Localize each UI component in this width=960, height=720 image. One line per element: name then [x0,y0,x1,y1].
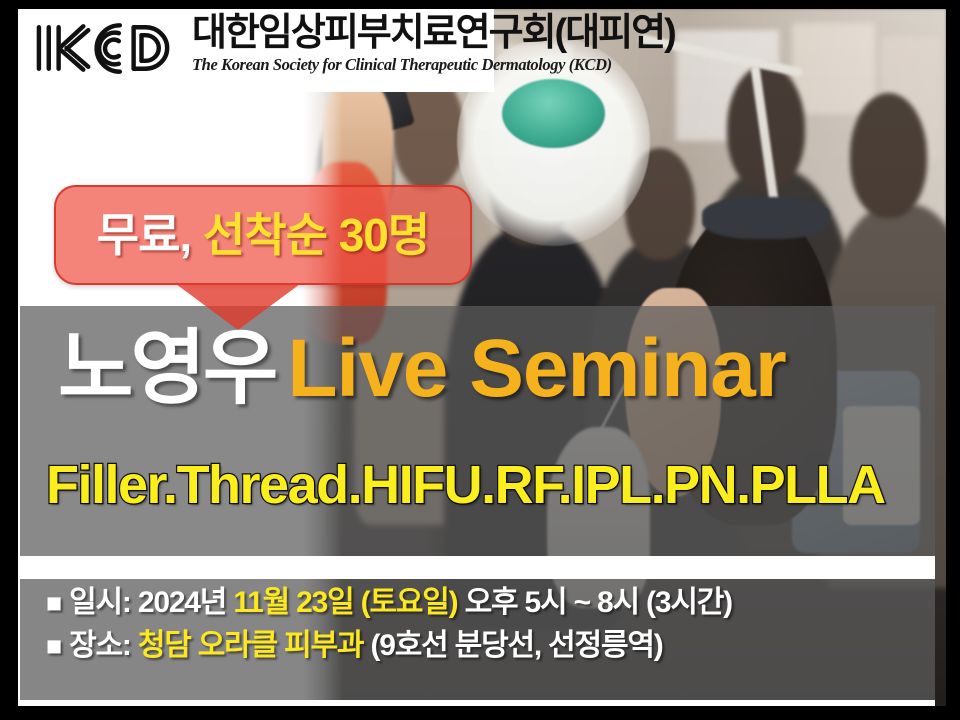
venue-label: 장소: [69,629,131,662]
treatment-topics: Filler.Thread.HIFU.RF.IPL.PN.PLLA [46,458,936,512]
badge-free-label: 무료, [97,209,191,261]
headline-row: 노영우Live Seminar [58,328,918,410]
poster-header: 대한임상피부치료연구회(대피연) The Korean Society for … [18,9,946,92]
badge-pointer-icon [176,284,300,330]
bottom-white-strip [20,700,935,706]
event-type-title: Live Seminar [287,323,785,414]
panel-separator [20,556,935,579]
event-date-line: ■일시: 2024년 11월 23일 (토요일) 오후 5시 ~ 8시 (3시간… [46,588,935,618]
event-venue-line: ■장소: 청담 오라클 피부과 (9호선 분당선, 선정릉역) [46,631,935,661]
poster-inner: 대한임상피부치료연구회(대피연) The Korean Society for … [18,9,946,706]
venue-transit: (9호선 분당선, 선정릉역) [370,629,662,662]
bullet-square-icon: ■ [46,631,61,661]
poster-root: 대한임상피부치료연구회(대피연) The Korean Society for … [0,0,960,720]
org-title-english: The Korean Society for Clinical Therapeu… [192,55,675,75]
speaker-name: 노영우 [58,323,275,414]
event-info-panel: ■일시: 2024년 11월 23일 (토요일) 오후 5시 ~ 8시 (3시간… [20,579,935,700]
badge-capacity-label: 선착순 30명 [203,209,429,261]
date-label: 일시: [69,586,131,619]
date-highlight: 11월 23일 (토요일) [233,586,457,619]
headline-panel: 노영우Live Seminar Filler.Thread.HIFU.RF.IP… [20,306,935,556]
venue-highlight: 청담 오라클 피부과 [138,629,363,662]
kcd-logo-icon [32,17,180,79]
bullet-square-icon: ■ [46,588,61,618]
date-time: 오후 5시 ~ 8시 (3시간) [465,586,732,619]
promo-badge: 무료, 선착순 30명 [54,185,472,285]
org-title-korean: 대한임상피부치료연구회(대피연) [192,13,675,54]
date-year: 2024년 [138,586,226,619]
